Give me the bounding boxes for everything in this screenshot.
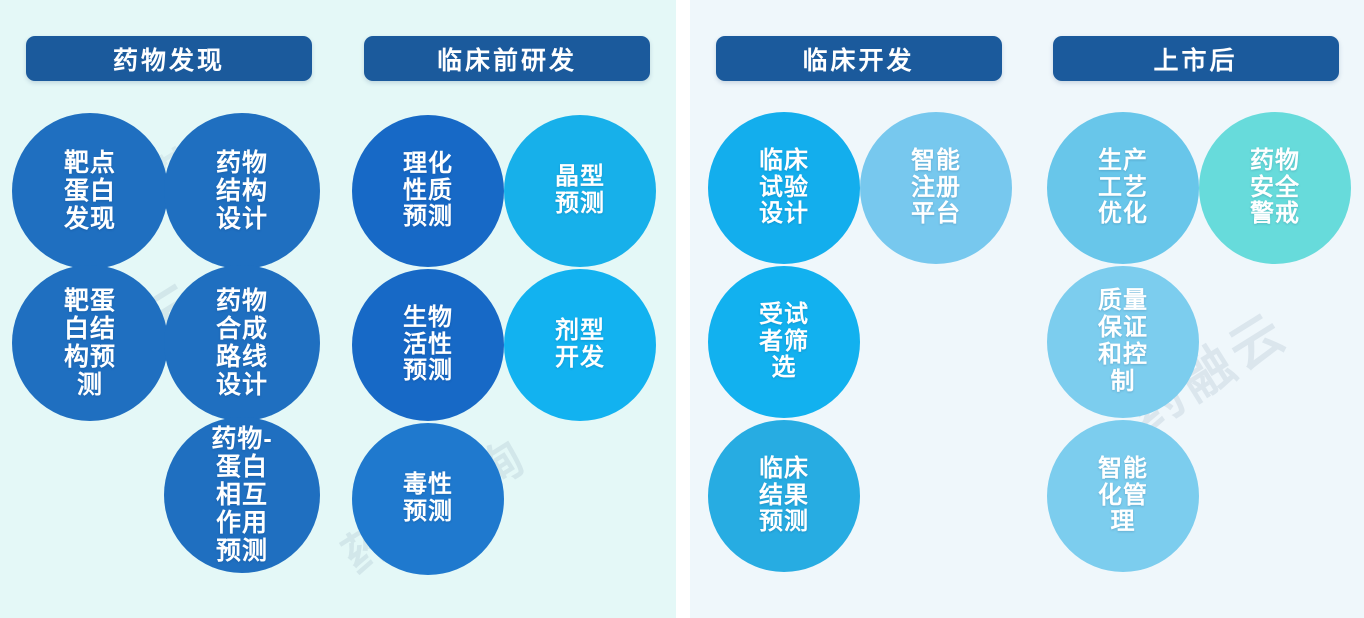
bubble-label: 剂型 开发 <box>508 318 652 372</box>
bubble-target-protein-discovery[interactable]: 靶点 蛋白 发现 <box>12 113 168 269</box>
bubble-label: 药物 安全 警戒 <box>1203 148 1347 229</box>
bubble-label: 药物- 蛋白 相互 作用 预测 <box>168 425 316 565</box>
bubble-label: 药物 合成 路线 设计 <box>168 287 316 399</box>
bubble-quality-assurance-and-control[interactable]: 质量 保证 和控 制 <box>1047 266 1199 418</box>
bubble-intelligent-registration-platform[interactable]: 智能 注册 平台 <box>860 112 1012 264</box>
bubble-physicochemical-property-prediction[interactable]: 理化 性质 预测 <box>352 115 504 267</box>
bubble-crystal-form-prediction[interactable]: 晶型 预测 <box>504 115 656 267</box>
bubble-bioactivity-prediction[interactable]: 生物 活性 预测 <box>352 269 504 421</box>
bubble-manufacturing-process-optimization[interactable]: 生产 工艺 优化 <box>1047 112 1199 264</box>
panel-preclinical: 药融云 药融咨询 药融 药物发现 靶点 蛋白 发现 药物 结构 设计 靶蛋 白结… <box>0 0 676 618</box>
bubble-label: 毒性 预测 <box>356 472 500 526</box>
bubble-label: 靶点 蛋白 发现 <box>16 149 164 233</box>
bubble-clinical-outcome-prediction[interactable]: 临床 结果 预测 <box>708 420 860 572</box>
panel-divider <box>676 0 690 618</box>
panel-clinical-postmarket: 咨询 药融云 临床开发 临床 试验 设计 智能 注册 平台 受试 者筛 选 临床… <box>690 0 1364 618</box>
bubble-label: 药物 结构 设计 <box>168 149 316 233</box>
column-preclinical-rd: 临床前研发 理化 性质 预测 晶型 预测 生物 活性 预测 剂型 开发 毒性 预… <box>338 0 676 618</box>
column-clinical-development: 临床开发 临床 试验 设计 智能 注册 平台 受试 者筛 选 临床 结果 预测 <box>690 0 1027 618</box>
stage-header-preclinical-rd[interactable]: 临床前研发 <box>364 36 650 81</box>
bubble-label: 晶型 预测 <box>508 164 652 218</box>
process-diagram: 药融云 药融咨询 药融 药物发现 靶点 蛋白 发现 药物 结构 设计 靶蛋 白结… <box>0 0 1364 618</box>
stage-header-post-market[interactable]: 上市后 <box>1053 36 1339 81</box>
bubble-intelligent-management[interactable]: 智能 化管 理 <box>1047 420 1199 572</box>
bubble-synthesis-route-design[interactable]: 药物 合成 路线 设计 <box>164 265 320 421</box>
bubble-toxicity-prediction[interactable]: 毒性 预测 <box>352 423 504 575</box>
bubble-label: 智能 注册 平台 <box>864 148 1008 229</box>
bubble-formulation-development[interactable]: 剂型 开发 <box>504 269 656 421</box>
bubble-label: 智能 化管 理 <box>1051 456 1195 537</box>
bubble-label: 靶蛋 白结 构预 测 <box>16 287 164 399</box>
bubble-label: 生产 工艺 优化 <box>1051 148 1195 229</box>
stage-header-drug-discovery[interactable]: 药物发现 <box>26 36 312 81</box>
stage-header-clinical-development[interactable]: 临床开发 <box>716 36 1002 81</box>
bubble-label: 生物 活性 预测 <box>356 305 500 386</box>
bubble-pharmacovigilance[interactable]: 药物 安全 警戒 <box>1199 112 1351 264</box>
bubble-label: 质量 保证 和控 制 <box>1051 288 1195 396</box>
column-post-market: 上市后 生产 工艺 优化 药物 安全 警戒 质量 保证 和控 制 智能 化管 理 <box>1027 0 1364 618</box>
bubble-subject-screening[interactable]: 受试 者筛 选 <box>708 266 860 418</box>
bubble-label: 临床 结果 预测 <box>712 456 856 537</box>
columns-left: 药物发现 靶点 蛋白 发现 药物 结构 设计 靶蛋 白结 构预 测 药物 合成 … <box>0 0 676 618</box>
bubble-label: 受试 者筛 选 <box>712 302 856 383</box>
bubble-label: 理化 性质 预测 <box>356 151 500 232</box>
bubble-drug-structure-design[interactable]: 药物 结构 设计 <box>164 113 320 269</box>
bubble-target-protein-structure-prediction[interactable]: 靶蛋 白结 构预 测 <box>12 265 168 421</box>
column-drug-discovery: 药物发现 靶点 蛋白 发现 药物 结构 设计 靶蛋 白结 构预 测 药物 合成 … <box>0 0 338 618</box>
bubble-label: 临床 试验 设计 <box>712 148 856 229</box>
bubble-drug-protein-interaction-prediction[interactable]: 药物- 蛋白 相互 作用 预测 <box>164 417 320 573</box>
bubble-clinical-trial-design[interactable]: 临床 试验 设计 <box>708 112 860 264</box>
columns-right: 临床开发 临床 试验 设计 智能 注册 平台 受试 者筛 选 临床 结果 预测 … <box>690 0 1364 618</box>
